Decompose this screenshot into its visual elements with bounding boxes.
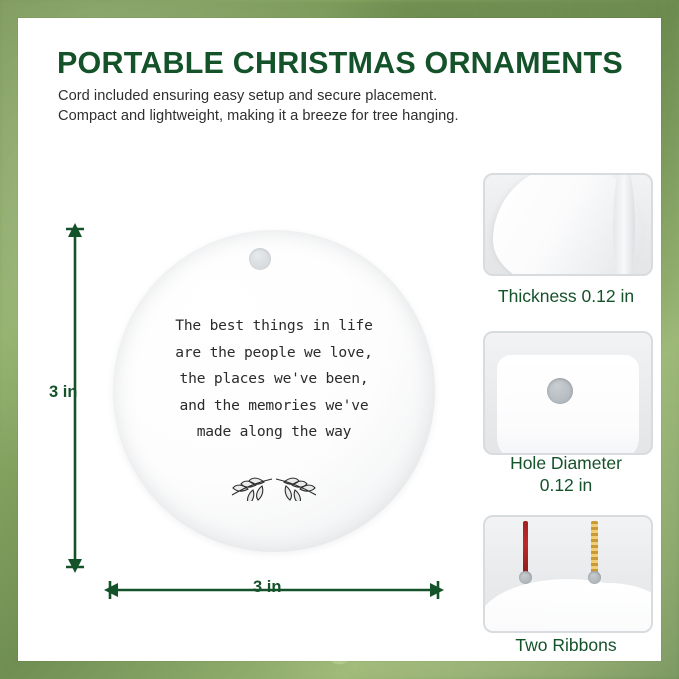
subtitle-line-1: Cord included ensuring easy setup and se… [58,88,658,104]
panel-two-ribbons [483,515,653,633]
panel-hole-diameter-caption-line-1: Hole Diameter [461,452,671,474]
ornament-quote-line-2: are the people we love, [113,340,435,367]
ornament-product-image: The best things in life are the people w… [113,230,435,552]
ornament-quote-line-1: The best things in life [113,313,435,340]
ornament-quote-line-3: the places we've been, [113,366,435,393]
ornament-quote-line-5: made along the way [113,419,435,446]
panel-hole-diameter-caption-line-2: 0.12 in [461,474,671,496]
ornament-topview-icon [497,355,639,455]
panel-two-ribbons-caption: Two Ribbons [461,634,671,656]
product-info-card: PORTABLE CHRISTMAS ORNAMENTS Cord includ… [18,18,661,661]
panel-hole-diameter [483,331,653,455]
page-title: PORTABLE CHRISTMAS ORNAMENTS [57,46,657,81]
grommet-left-icon [519,571,532,584]
ornament-edge-highlight-icon [613,173,635,276]
gold-ribbon-icon [591,521,598,573]
ornament-quote-line-4: and the memories we've [113,393,435,420]
panel-thickness [483,173,653,276]
grommet-right-icon [588,571,601,584]
panel-thickness-caption: Thickness 0.12 in [461,285,671,307]
leaf-sprig-icon [214,473,334,501]
height-measure-label: 3 in [49,383,77,402]
hole-icon [547,378,573,404]
red-ribbon-icon [523,521,528,573]
photo-background: PORTABLE CHRISTMAS ORNAMENTS Cord includ… [0,0,679,679]
subtitle-line-2: Compact and lightweight, making it a bre… [58,108,658,124]
width-measure-label: 3 in [253,578,281,597]
ornament-hole-icon [249,248,271,270]
